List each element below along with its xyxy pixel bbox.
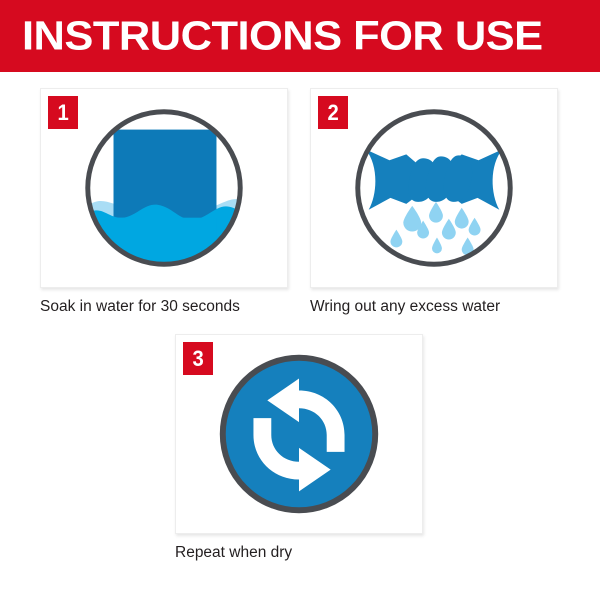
step-2-card-frame: 2 (310, 88, 558, 288)
step-2-caption: Wring out any excess water (310, 298, 560, 317)
steps-container: 1 (0, 72, 600, 600)
step-card-2: 2 (310, 88, 560, 317)
step-2-number-badge: 2 (318, 96, 348, 129)
instructions-for-use-page: INSTRUCTIONS FOR USE 1 (0, 0, 600, 600)
step-1-number-label: 1 (57, 102, 68, 124)
step-1-number-badge: 1 (48, 96, 78, 129)
header-band: INSTRUCTIONS FOR USE (0, 0, 600, 72)
step-3-number-label: 3 (192, 348, 203, 370)
step-card-1: 1 (40, 88, 290, 317)
page-title: INSTRUCTIONS FOR USE (22, 16, 513, 57)
water-droplets (390, 202, 480, 255)
step-3-number-badge: 3 (183, 342, 213, 375)
page-title-text: INSTRUCTIONS FOR USE (22, 16, 543, 57)
step-3-caption: Repeat when dry (175, 544, 425, 563)
step-1-card-frame: 1 (40, 88, 288, 288)
step-2-number-label: 2 (327, 102, 338, 124)
step-3-card-frame: 3 (175, 334, 423, 534)
cloth-shape (366, 149, 503, 209)
step-1-caption: Soak in water for 30 seconds (40, 298, 290, 317)
step-card-3: 3 Repeat when dry (175, 334, 425, 563)
